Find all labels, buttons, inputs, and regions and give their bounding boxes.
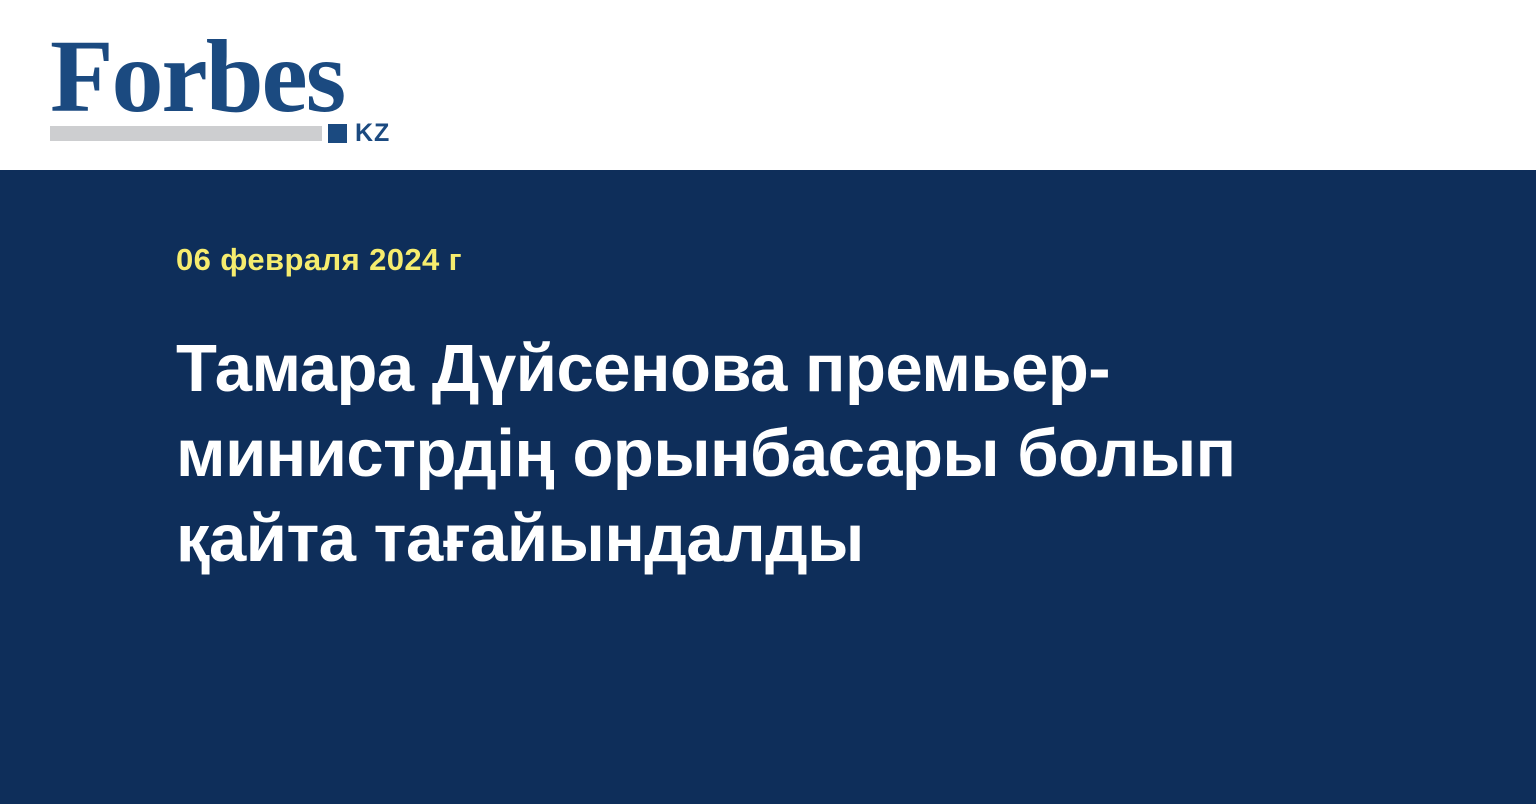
- article-date: 06 февраля 2024 г: [176, 170, 1426, 278]
- logo-rule-bar: [50, 126, 322, 141]
- logo-square-icon: [328, 124, 347, 143]
- logo-kz-text: KZ: [355, 121, 390, 146]
- forbes-kz-logo[interactable]: Forbes KZ: [50, 25, 410, 147]
- article-card-page: Forbes KZ 06 февраля 2024 г Тамара Дүйсе…: [0, 0, 1536, 804]
- article-title: Тамара Дүйсенова премьер-министрдің орын…: [176, 278, 1396, 581]
- site-header: Forbes KZ: [0, 0, 1536, 170]
- article-hero-content: 06 февраля 2024 г Тамара Дүйсенова премь…: [176, 170, 1426, 581]
- logo-wordmark-text: Forbes: [50, 25, 344, 129]
- article-hero: 06 февраля 2024 г Тамара Дүйсенова премь…: [0, 170, 1536, 804]
